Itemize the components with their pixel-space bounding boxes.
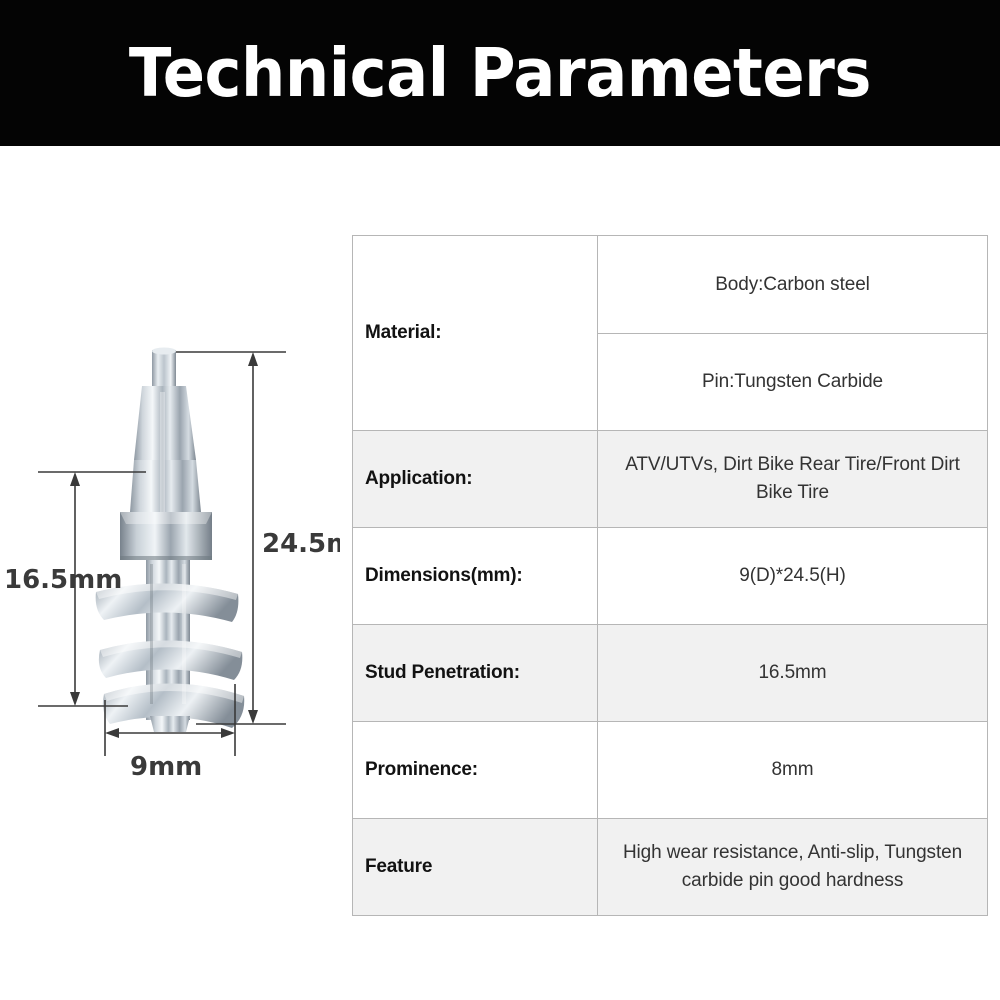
arrow-up-icon [248,352,258,366]
table-row: Material: Body:Carbon steel [353,236,988,334]
dimension-diameter-label: 9mm [130,752,202,782]
row-label-application: Application: [353,431,598,528]
arrow-up-icon [70,472,80,486]
arrow-down-icon [248,710,258,724]
row-value-material-body: Body:Carbon steel [598,236,988,334]
header-banner: Technical Parameters [0,0,1000,146]
page-title: Technical Parameters [129,40,871,107]
dimension-penetration-label: 16.5mm [4,565,122,595]
row-label-feature: Feature [353,819,598,916]
table-row: Feature High wear resistance, Anti-slip,… [353,819,988,916]
row-label-stud-penetration: Stud Penetration: [353,625,598,722]
arrow-right-icon [221,728,235,738]
table-row: Application: ATV/UTVs, Dirt Bike Rear Ti… [353,431,988,528]
product-figure: 24.5mm 16.5mm 9mm [0,160,340,960]
row-value-dimensions: 9(D)*24.5(H) [598,528,988,625]
row-label-prominence: Prominence: [353,722,598,819]
arrow-down-icon [70,692,80,706]
table-row: Prominence: 8mm [353,722,988,819]
table-row: Dimensions(mm): 9(D)*24.5(H) [353,528,988,625]
row-value-prominence: 8mm [598,722,988,819]
dimension-height-label: 24.5mm [262,529,340,559]
row-value-material-pin: Pin:Tungsten Carbide [598,334,988,431]
row-label-dimensions: Dimensions(mm): [353,528,598,625]
arrow-left-icon [105,728,119,738]
row-value-stud-penetration: 16.5mm [598,625,988,722]
table-row: Stud Penetration: 16.5mm [353,625,988,722]
technical-parameters-table: Material: Body:Carbon steel Pin:Tungsten… [352,235,988,916]
row-value-application: ATV/UTVs, Dirt Bike Rear Tire/Front Dirt… [598,431,988,528]
row-value-feature: High wear resistance, Anti-slip, Tungste… [598,819,988,916]
stud-illustration [96,348,245,733]
row-label-material: Material: [353,236,598,431]
